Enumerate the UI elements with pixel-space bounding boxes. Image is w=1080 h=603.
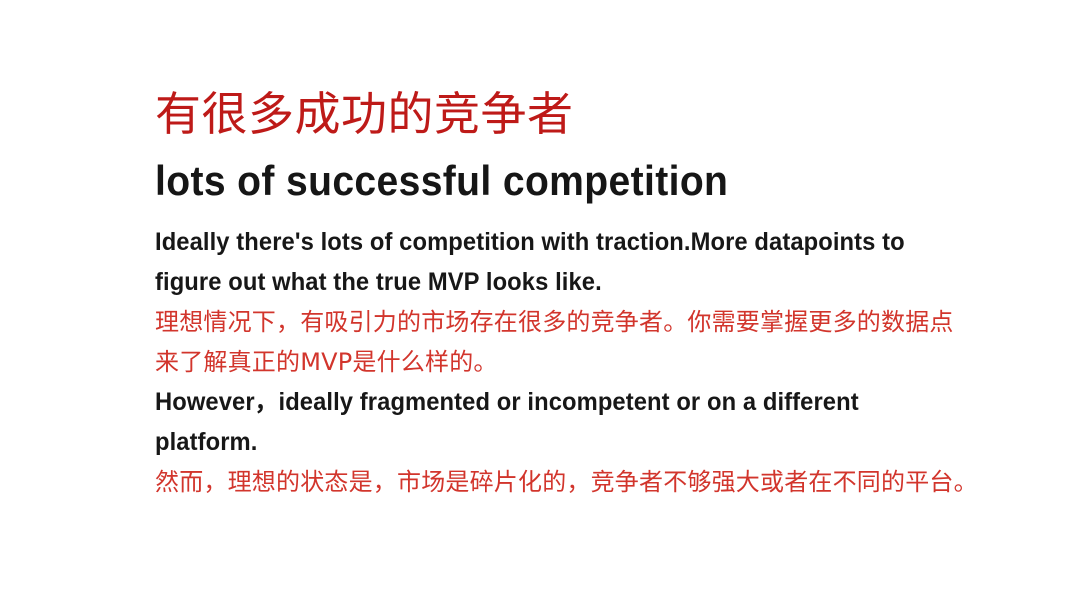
paragraph-chinese-1: 理想情况下，有吸引力的市场存在很多的竞争者。你需要掌握更多的数据点 来了解真正的…	[155, 302, 1035, 382]
paragraph-line: platform.	[155, 422, 1033, 462]
slide-title-chinese: 有很多成功的竞争者	[155, 84, 1035, 144]
slide-canvas: 有很多成功的竞争者 lots of successful competition…	[0, 0, 1080, 603]
paragraph-line: figure out what the true MVP looks like.	[155, 262, 1033, 302]
paragraph-english-2: However，ideally fragmented or incompeten…	[155, 382, 1033, 462]
paragraph-line: Ideally there's lots of competition with…	[155, 222, 1033, 262]
slide-content: 有很多成功的竞争者 lots of successful competition…	[155, 84, 1035, 502]
paragraph-line: 理想情况下，有吸引力的市场存在很多的竞争者。你需要掌握更多的数据点	[155, 302, 1035, 342]
paragraph-line: 然而，理想的状态是，市场是碎片化的，竞争者不够强大或者在不同的平台。	[155, 462, 1035, 502]
paragraph-english-1: Ideally there's lots of competition with…	[155, 222, 1033, 302]
paragraph-line: However，ideally fragmented or incompeten…	[155, 382, 1033, 422]
paragraph-chinese-2: 然而，理想的状态是，市场是碎片化的，竞争者不够强大或者在不同的平台。	[155, 462, 1035, 502]
slide-title-english: lots of successful competition	[155, 154, 973, 208]
paragraph-line: 来了解真正的MVP是什么样的。	[155, 342, 1035, 382]
